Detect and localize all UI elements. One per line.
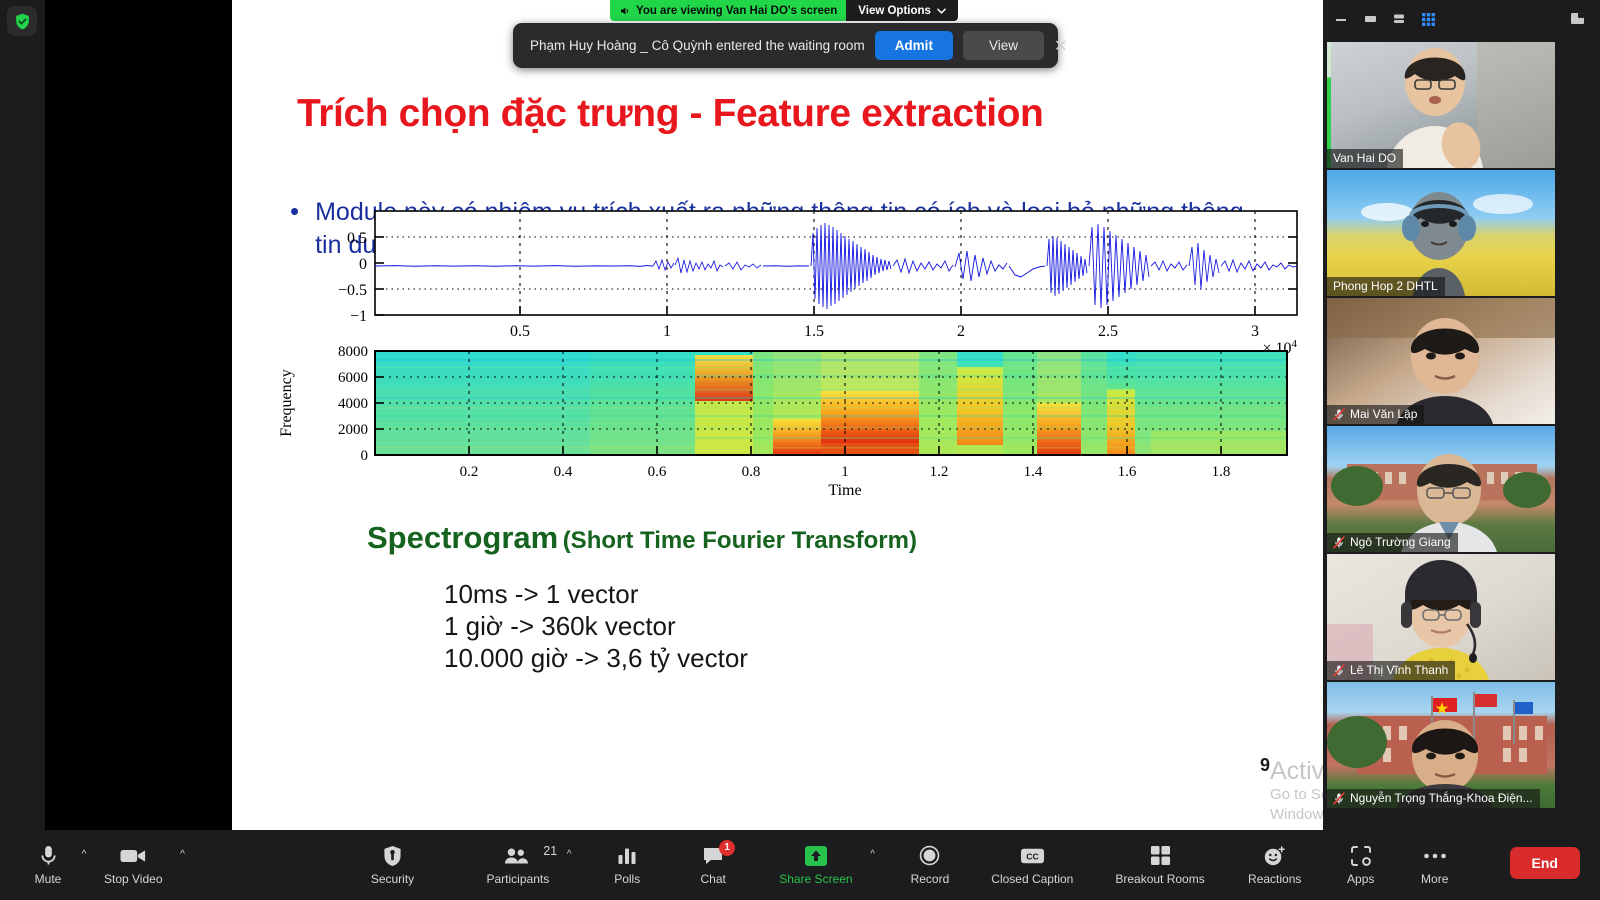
view-options-label: View Options xyxy=(858,5,931,17)
view-options-button[interactable]: View Options xyxy=(846,0,958,21)
microphone-muted-icon xyxy=(1333,664,1345,677)
reactions-button[interactable]: Reactions xyxy=(1237,841,1313,890)
speaker-view-icon xyxy=(1392,12,1406,26)
participant-tile[interactable]: Nguyễn Trọng Thắng-Khoa Điện... xyxy=(1327,682,1555,808)
participant-filmstrip: Van Hai DO xyxy=(1323,0,1600,830)
presentation-slide: Trích chọn đặc trưng - Feature extractio… xyxy=(232,0,1323,830)
svg-text:1.6: 1.6 xyxy=(1118,464,1137,480)
svg-text:CC: CC xyxy=(1026,851,1038,861)
minimize-button[interactable] xyxy=(1333,11,1349,27)
mute-button[interactable]: Mute xyxy=(22,841,74,890)
participant-tile[interactable]: Van Hai DO xyxy=(1327,42,1555,168)
participant-tile[interactable]: Mai Văn Lập xyxy=(1327,298,1555,424)
speaker-view-button[interactable] xyxy=(1391,11,1407,27)
caption-sub: (Short Time Fourier Transform) xyxy=(563,527,917,554)
close-notification-button[interactable]: ✕ xyxy=(1054,31,1067,60)
waveform-chart: 0.5 0 −0.5 −1 0.51 1.52 2.53 × 104 xyxy=(275,203,1315,353)
apps-icon xyxy=(1350,845,1372,867)
svg-text:1.4: 1.4 xyxy=(1024,464,1043,480)
shield-icon xyxy=(383,845,402,867)
smiley-plus-icon xyxy=(1263,845,1286,867)
svg-text:1.2: 1.2 xyxy=(930,464,949,480)
stop-video-label: Stop Video xyxy=(104,872,163,886)
participant-tile[interactable]: Phong Hop 2 DHTL xyxy=(1327,170,1555,296)
cc-icon: CC xyxy=(1020,845,1045,867)
chat-label: Chat xyxy=(701,872,726,886)
polls-label: Polls xyxy=(614,872,640,886)
breakout-rooms-button[interactable]: Breakout Rooms xyxy=(1105,841,1214,890)
notification-message: Phạm Huy Hoàng _ Cô Quỳnh entered the wa… xyxy=(530,38,865,53)
participant-tile[interactable]: Ngô Trường Giang xyxy=(1327,426,1555,552)
vector-line-2: 1 giờ -> 360k vector xyxy=(444,610,748,642)
svg-text:2000: 2000 xyxy=(338,422,368,438)
participant-name-bar: Mai Văn Lập xyxy=(1327,405,1424,424)
participants-options-caret[interactable]: ^ xyxy=(559,843,579,887)
participants-button[interactable]: 21 Participants xyxy=(477,841,560,890)
screen-share-status-bar: You are viewing Van Hai DO's screen View… xyxy=(610,0,958,21)
record-circle-icon xyxy=(919,845,940,867)
gallery-view-button[interactable] xyxy=(1420,11,1436,27)
reactions-label: Reactions xyxy=(1248,872,1301,886)
spectrogram-chart: 80006000 40002000 0 Frequency 0.20.40.6 … xyxy=(265,345,1315,500)
security-shield-badge[interactable] xyxy=(7,6,37,36)
microphone-muted-icon xyxy=(1333,408,1345,421)
participant-name-bar: Nguyễn Trọng Thắng-Khoa Điện... xyxy=(1327,789,1540,808)
video-camera-icon xyxy=(120,845,146,867)
chat-button[interactable]: 1 Chat xyxy=(687,841,739,890)
apps-label: Apps xyxy=(1347,872,1374,886)
participant-name-bar: Phong Hop 2 DHTL xyxy=(1327,277,1445,296)
svg-text:6000: 6000 xyxy=(338,370,368,386)
stop-video-button[interactable]: Stop Video xyxy=(94,841,173,890)
popout-button[interactable] xyxy=(1570,11,1586,31)
ellipsis-icon xyxy=(1423,845,1447,867)
svg-text:−1: −1 xyxy=(350,308,367,325)
participant-name: Ngô Trường Giang xyxy=(1350,535,1451,549)
svg-text:−0.5: −0.5 xyxy=(338,282,367,299)
spectrogram-ylabel: Frequency xyxy=(278,369,295,437)
svg-text:1: 1 xyxy=(841,464,849,480)
svg-text:0: 0 xyxy=(359,256,367,273)
caption-main: Spectrogram xyxy=(367,520,558,555)
share-screen-button[interactable]: Share Screen xyxy=(769,841,862,890)
svg-text:0.2: 0.2 xyxy=(460,464,479,480)
participants-label: Participants xyxy=(487,872,550,886)
waiting-room-notification: Phạm Huy Hoàng _ Cô Quỳnh entered the wa… xyxy=(513,23,1058,68)
people-icon xyxy=(504,845,532,867)
more-button[interactable]: More xyxy=(1409,841,1461,890)
svg-text:1: 1 xyxy=(663,323,671,340)
security-label: Security xyxy=(371,872,414,886)
svg-text:2.5: 2.5 xyxy=(1098,323,1118,340)
window-controls xyxy=(1323,0,1600,38)
meeting-toolbar: Mute ^ Stop Video ^ xyxy=(0,830,1600,900)
end-meeting-button[interactable]: End xyxy=(1510,847,1580,879)
closed-caption-label: Closed Caption xyxy=(991,872,1073,886)
closed-caption-button[interactable]: CC Closed Caption xyxy=(981,841,1083,890)
viewing-status: You are viewing Van Hai DO's screen xyxy=(610,0,846,21)
audio-options-caret[interactable]: ^ xyxy=(74,843,94,887)
chat-unread-badge: 1 xyxy=(719,840,735,856)
share-options-caret[interactable]: ^ xyxy=(863,843,883,887)
microphone-muted-icon xyxy=(1333,792,1345,805)
shared-screen-stage: Trích chọn đặc trưng - Feature extractio… xyxy=(45,0,1323,830)
breakout-rooms-label: Breakout Rooms xyxy=(1115,872,1204,886)
svg-text:3: 3 xyxy=(1251,323,1259,340)
svg-text:0.6: 0.6 xyxy=(648,464,667,480)
popout-icon xyxy=(1570,11,1586,26)
participant-name: Phong Hop 2 DHTL xyxy=(1333,279,1438,293)
participant-name: Nguyễn Trọng Thắng-Khoa Điện... xyxy=(1350,791,1533,805)
spectrogram-caption: Spectrogram (Short Time Fourier Transfor… xyxy=(367,520,917,556)
participant-name: Mai Văn Lập xyxy=(1350,407,1417,421)
maximize-button[interactable] xyxy=(1362,11,1378,27)
video-options-caret[interactable]: ^ xyxy=(173,843,193,887)
svg-text:8000: 8000 xyxy=(338,345,368,360)
participant-name-bar: Lê Thị Vĩnh Thanh xyxy=(1327,661,1455,680)
apps-button[interactable]: Apps xyxy=(1335,841,1387,890)
security-button[interactable]: Security xyxy=(355,841,431,890)
microphone-icon xyxy=(39,845,58,867)
share-screen-label: Share Screen xyxy=(779,872,852,886)
slide-page-number: 9 xyxy=(1260,755,1270,776)
more-label: More xyxy=(1421,872,1448,886)
svg-text:0.4: 0.4 xyxy=(554,464,573,480)
viewing-status-text: You are viewing Van Hai DO's screen xyxy=(636,5,837,17)
chevron-down-icon xyxy=(937,8,946,14)
slide-title: Trích chọn đặc trưng - Feature extractio… xyxy=(297,92,1287,136)
svg-text:0.5: 0.5 xyxy=(510,323,530,340)
maximize-icon xyxy=(1363,12,1377,26)
speaker-icon xyxy=(619,5,631,17)
bar-chart-icon xyxy=(617,845,637,867)
zoom-meeting-window: Trích chọn đặc trưng - Feature extractio… xyxy=(0,0,1600,900)
svg-text:0.8: 0.8 xyxy=(742,464,761,480)
vector-math-list: 10ms -> 1 vector 1 giờ -> 360k vector 10… xyxy=(444,578,748,675)
svg-text:1.5: 1.5 xyxy=(804,323,824,340)
left-rail xyxy=(0,0,45,830)
view-button[interactable]: View xyxy=(963,31,1044,60)
gallery-view-icon xyxy=(1421,12,1436,27)
grid-squares-icon xyxy=(1150,845,1171,867)
minimize-icon xyxy=(1334,12,1348,26)
microphone-muted-icon xyxy=(1333,536,1345,549)
share-screen-icon xyxy=(804,845,828,867)
participant-name: Lê Thị Vĩnh Thanh xyxy=(1350,663,1448,677)
participant-name: Van Hai DO xyxy=(1333,151,1396,165)
svg-text:0.5: 0.5 xyxy=(347,230,367,247)
svg-text:1.8: 1.8 xyxy=(1212,464,1231,480)
participant-tile[interactable]: Lê Thị Vĩnh Thanh xyxy=(1327,554,1555,680)
svg-text:0: 0 xyxy=(361,448,369,464)
polls-button[interactable]: Polls xyxy=(601,841,653,890)
vector-line-1: 10ms -> 1 vector xyxy=(444,578,748,610)
participant-name-bar: Van Hai DO xyxy=(1327,149,1403,168)
participants-count: 21 xyxy=(543,844,557,858)
record-label: Record xyxy=(911,872,950,886)
participant-name-bar: Ngô Trường Giang xyxy=(1327,533,1458,552)
admit-button[interactable]: Admit xyxy=(875,31,953,60)
shield-check-icon xyxy=(13,12,32,31)
record-button[interactable]: Record xyxy=(901,841,960,890)
spectrogram-xlabel: Time xyxy=(828,482,861,499)
vector-line-3: 10.000 giờ -> 3,6 tỷ vector xyxy=(444,642,748,674)
svg-text:2: 2 xyxy=(957,323,965,340)
svg-text:4000: 4000 xyxy=(338,396,368,412)
mute-label: Mute xyxy=(35,872,62,886)
participant-tiles: Van Hai DO xyxy=(1327,42,1555,810)
